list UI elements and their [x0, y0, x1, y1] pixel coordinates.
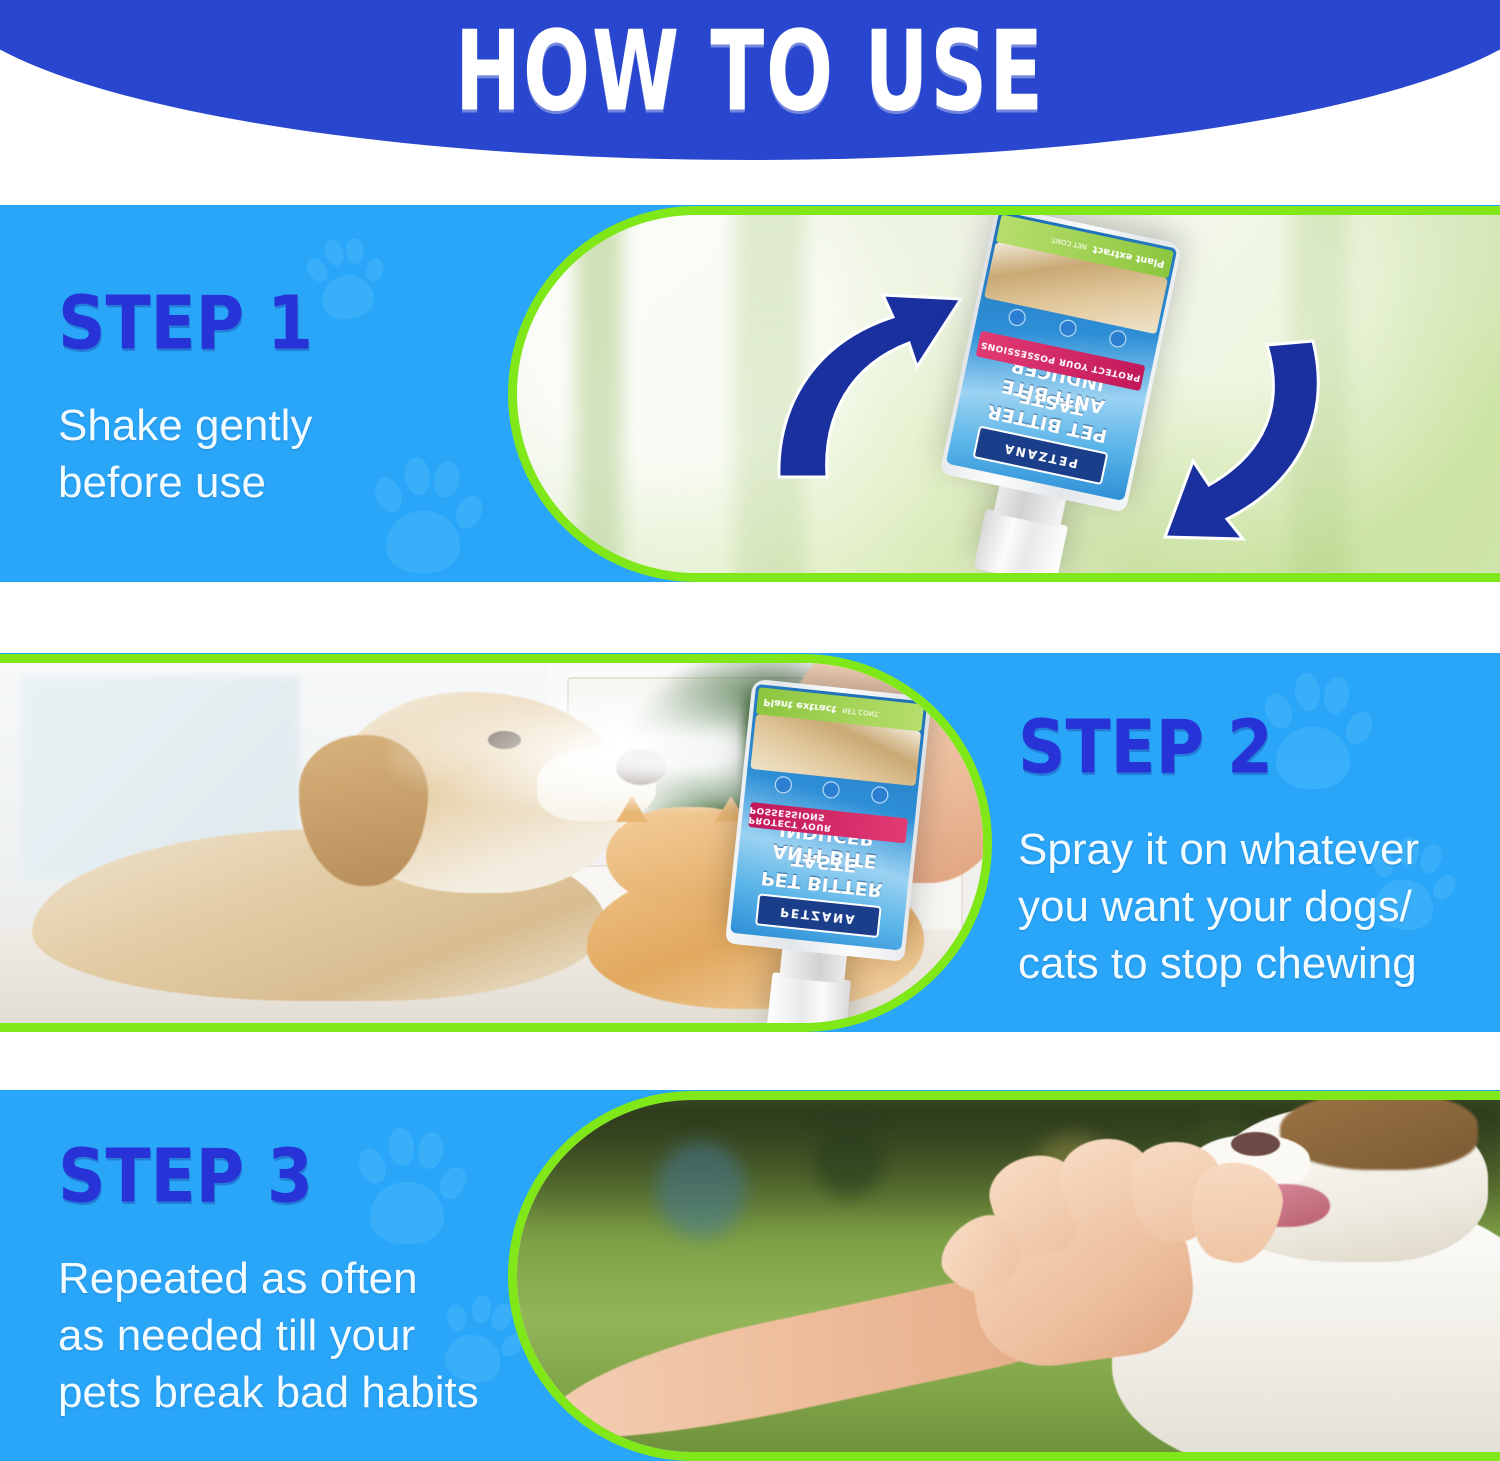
step-2-body: Spray it on whatever you want your dogs/…: [1018, 821, 1488, 993]
step-1-text: STEP 1 Shake gently before use: [58, 287, 458, 511]
brand-badge: PETZANA: [755, 893, 882, 938]
header-banner: HOW TO USE: [0, 0, 1500, 160]
outdoor-grass-scene: [517, 1100, 1500, 1452]
net-content-text: NET CONT.: [1050, 235, 1088, 251]
bottle-body: PETZANA PET BITTER TASTE ANTI BITE INDUC…: [725, 679, 932, 962]
feature-icon-2: [822, 781, 841, 800]
step-1-body: Shake gently before use: [58, 397, 458, 511]
product-bottle: PETZANA PET BITTER TASTE ANTI BITE INDUC…: [716, 679, 932, 1023]
step-2-image: PETZANA PET BITTER TASTE ANTI BITE INDUC…: [0, 654, 992, 1032]
step-3-heading: STEP 3: [58, 1140, 518, 1214]
page-title: HOW TO USE: [0, 16, 1500, 127]
spray-mist: [388, 685, 745, 807]
feature-icon-2: [1057, 318, 1077, 338]
step-1-image: PETZANA PET BITTER TASTE ANTI BITE INDUC…: [508, 206, 1500, 582]
bottle-label: PETZANA PET BITTER TASTE ANTI BITE INDUC…: [730, 684, 928, 951]
step-3-text: STEP 3 Repeated as often as needed till …: [58, 1140, 518, 1422]
feature-icon-3: [870, 786, 889, 805]
step-2-heading: STEP 2: [1018, 711, 1488, 785]
net-content-text: NET CONT.: [842, 706, 880, 718]
step-2-text: STEP 2 Spray it on whatever you want you…: [1018, 711, 1488, 993]
infographic-page: HOW TO USE STEP 1 Shake gently before us…: [0, 0, 1500, 1461]
feature-icon-1: [774, 776, 793, 795]
step-1-heading: STEP 1: [58, 287, 458, 361]
feature-icon-1: [1107, 329, 1127, 349]
step-3-body: Repeated as often as needed till your pe…: [58, 1250, 518, 1422]
step-3-image: [508, 1091, 1500, 1461]
plant-extract-text: Plant extract: [763, 696, 837, 715]
feature-icon-3: [1007, 308, 1027, 328]
